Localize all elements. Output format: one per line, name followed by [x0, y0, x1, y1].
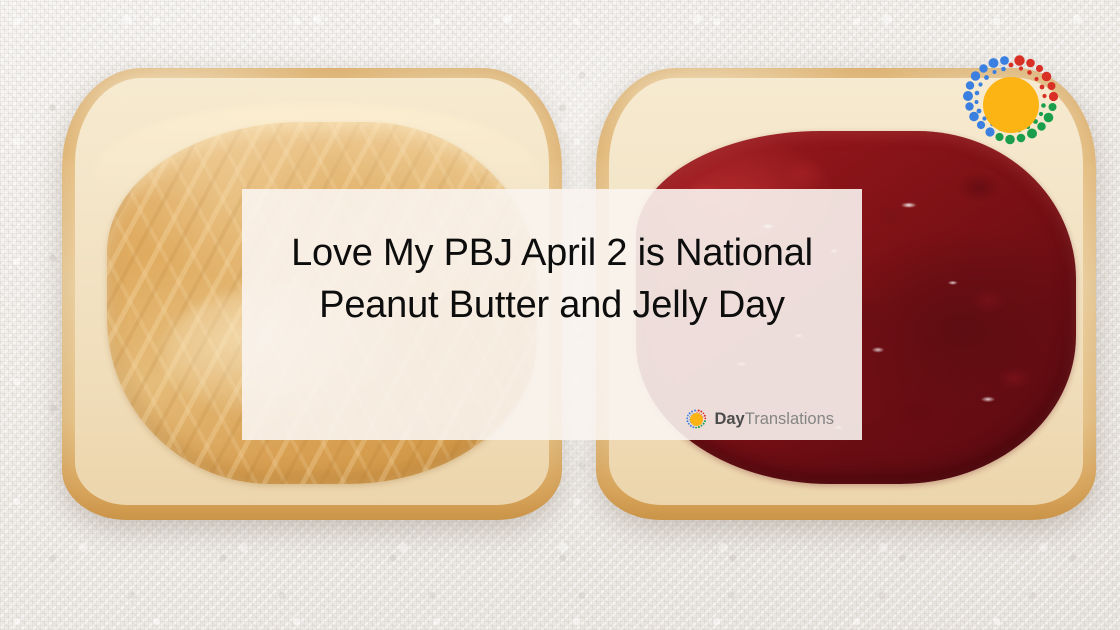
day-translations-logo[interactable]: DayTranslations	[686, 409, 834, 430]
brand-name-regular: Translations	[745, 410, 834, 428]
page-title: Love My PBJ April 2 is National Peanut B…	[272, 227, 832, 331]
day-translations-wordmark: DayTranslations	[714, 411, 834, 428]
poster-canvas: Love My PBJ April 2 is National Peanut B…	[0, 0, 1120, 630]
headline-banner: Love My PBJ April 2 is National Peanut B…	[242, 189, 862, 440]
brand-name-bold: Day	[714, 410, 744, 428]
sun-dots-icon	[686, 409, 707, 430]
sun-dots-icon[interactable]	[957, 51, 1065, 159]
sun-core	[983, 77, 1039, 133]
